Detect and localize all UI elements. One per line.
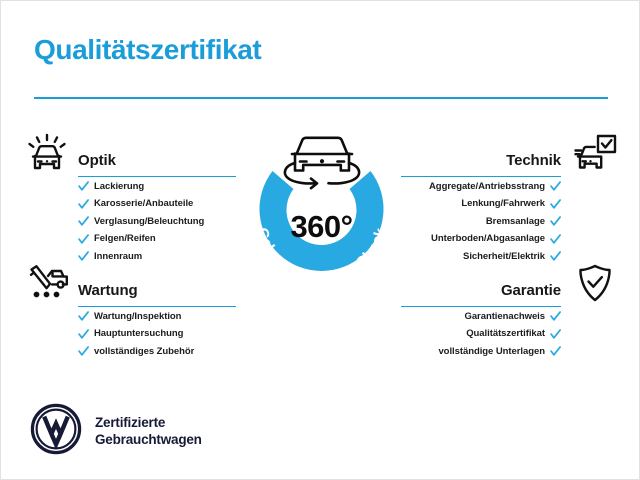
list-item-label: vollständige Unterlagen: [438, 347, 545, 357]
list-item: Felgen/Reifen: [78, 234, 236, 245]
list-item-label: Garantienachweis: [464, 312, 545, 322]
list-item-label: vollständiges Zubehör: [94, 347, 194, 357]
list-item: Qualitätszertifikat: [401, 329, 561, 340]
section-optik-title: Optik: [78, 152, 116, 169]
section-optik-divider: [78, 176, 236, 178]
title-divider: [34, 97, 608, 99]
badge-degrees: 360°: [229, 209, 414, 245]
section-wartung-header: Wartung: [21, 259, 236, 311]
list-item-label: Lackierung: [94, 182, 144, 192]
vw-logo-line2: Gebrauchtwagen: [95, 432, 202, 449]
list-item: Unterboden/Abgasanlage: [401, 234, 561, 245]
check-icon: [78, 346, 89, 357]
certificate-page: Qualitätszertifikat Optik: [0, 0, 640, 480]
list-item-label: Qualitätszertifikat: [466, 329, 545, 339]
car-shine-icon: [21, 129, 73, 179]
vw-footer: Zertifizierte Gebrauchtwagen: [30, 403, 202, 460]
check-icon: [550, 234, 561, 245]
vw-logo-line1: Zertifizierte: [95, 415, 202, 432]
vw-logo-svg: [30, 403, 82, 455]
check-icon: [78, 234, 89, 245]
check-icon: [550, 346, 561, 357]
check-icon: [550, 311, 561, 322]
list-item-label: Aggregate/Antriebsstrang: [429, 182, 545, 192]
list-item: vollständige Unterlagen: [401, 346, 561, 357]
list-item: Verglasung/Beleuchtung: [78, 216, 236, 227]
list-item-label: Unterboden/Abgasanlage: [431, 234, 545, 244]
check-icon: [78, 329, 89, 340]
list-item-label: Lenkung/Fahrwerk: [461, 199, 545, 209]
badge-360-gebrauchtwagen-check: Gebrauchtwagen-Check 360°: [229, 113, 414, 313]
section-technik: Technik Aggregate/Antriebsstrang Lenkung…: [401, 129, 621, 269]
vw-logo-text: Zertifizierte Gebrauchtwagen: [95, 415, 202, 449]
section-technik-divider: [401, 176, 561, 178]
list-item: Wartung/Inspektion: [78, 311, 236, 322]
list-item: vollständiges Zubehör: [78, 346, 236, 357]
section-garantie-title: Garantie: [501, 282, 561, 299]
check-icon: [78, 311, 89, 322]
section-technik-header: Technik: [401, 129, 621, 181]
check-icon: [550, 181, 561, 192]
section-wartung-title: Wartung: [78, 282, 138, 299]
check-icon: [550, 216, 561, 227]
list-item-label: Karosserie/Anbauteile: [94, 199, 193, 209]
check-icon: [550, 199, 561, 210]
page-title: Qualitätszertifikat: [34, 34, 261, 66]
section-wartung: Wartung Wartung/Inspektion Hauptuntersuc…: [21, 259, 236, 364]
section-optik-header: Optik: [21, 129, 236, 181]
list-item: Aggregate/Antriebsstrang: [401, 181, 561, 192]
list-item-label: Bremsanlage: [486, 217, 545, 227]
section-technik-list: Aggregate/Antriebsstrang Lenkung/Fahrwer…: [401, 181, 561, 262]
shield-check-icon: [569, 259, 621, 309]
car-rotation-icon: [285, 138, 359, 188]
section-garantie-list: Garantienachweis Qualitätszertifikat vol…: [401, 311, 561, 357]
check-icon: [78, 216, 89, 227]
list-item: Garantienachweis: [401, 311, 561, 322]
check-icon: [550, 329, 561, 340]
list-item: Hauptuntersuchung: [78, 329, 236, 340]
section-optik: Optik Lackierung Karosserie/Anbauteile V…: [21, 129, 236, 269]
list-item: Bremsanlage: [401, 216, 561, 227]
pen-car-service-icon: [21, 259, 73, 309]
list-item-label: Felgen/Reifen: [94, 234, 156, 244]
list-item-label: Wartung/Inspektion: [94, 312, 181, 322]
list-item: Lackierung: [78, 181, 236, 192]
section-optik-list: Lackierung Karosserie/Anbauteile Verglas…: [78, 181, 236, 262]
section-wartung-list: Wartung/Inspektion Hauptuntersuchung vol…: [78, 311, 236, 357]
check-icon: [78, 199, 89, 210]
section-garantie: Garantie Garantienachweis Qualitätszerti…: [401, 259, 621, 364]
list-item: Karosserie/Anbauteile: [78, 199, 236, 210]
list-item-label: Hauptuntersuchung: [94, 329, 183, 339]
section-wartung-divider: [78, 306, 236, 308]
section-garantie-divider: [401, 306, 561, 308]
vw-logo: [30, 403, 82, 460]
section-technik-title: Technik: [506, 152, 561, 169]
car-checkbox-icon: [569, 129, 621, 179]
check-icon: [78, 181, 89, 192]
list-item-label: Verglasung/Beleuchtung: [94, 217, 204, 227]
section-garantie-header: Garantie: [401, 259, 621, 311]
list-item: Lenkung/Fahrwerk: [401, 199, 561, 210]
